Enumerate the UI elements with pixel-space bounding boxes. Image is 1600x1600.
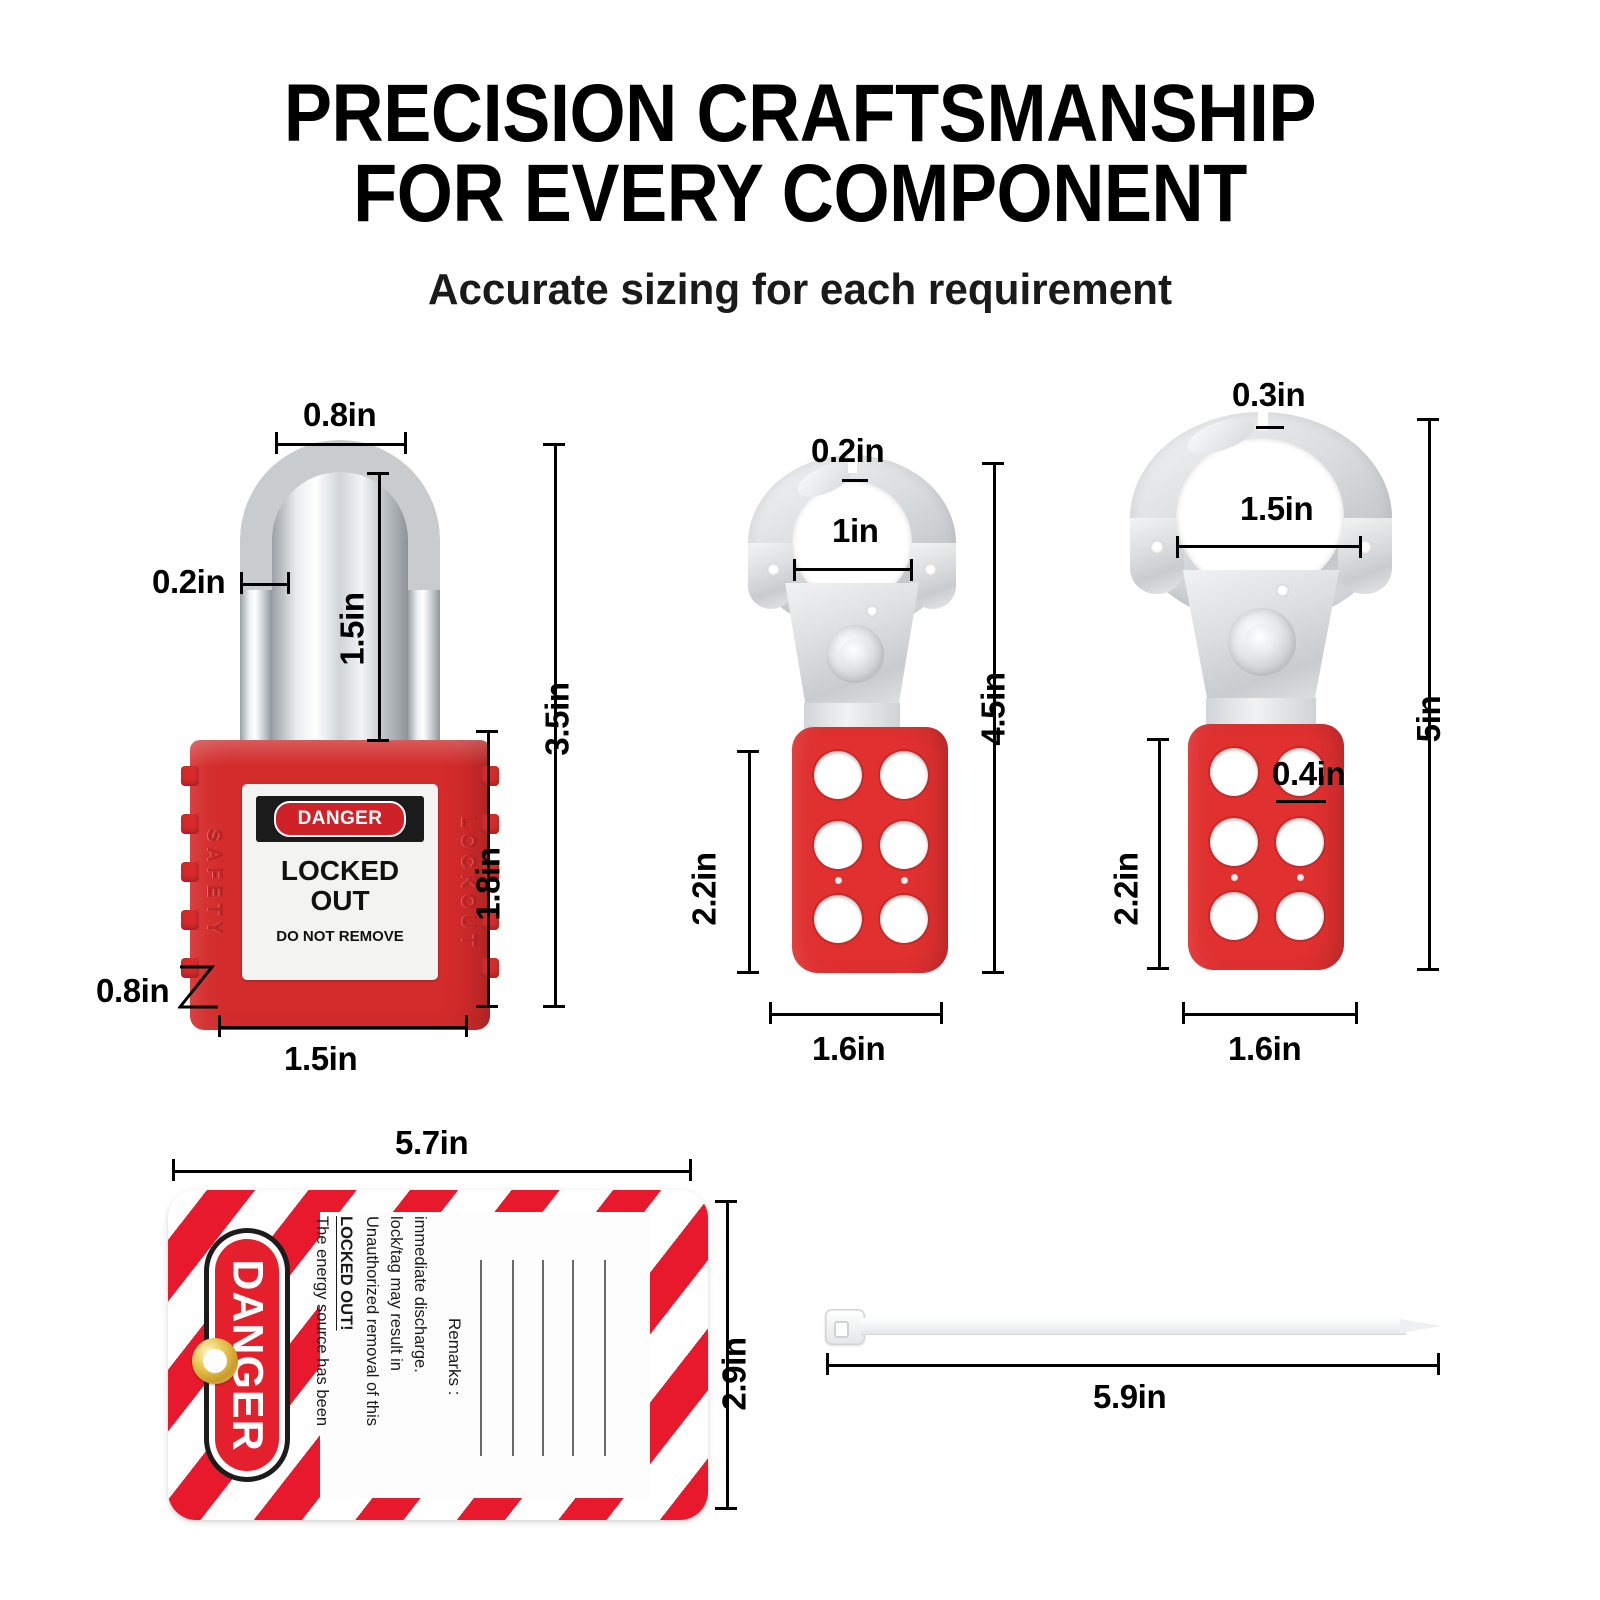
dim-hasp2-hole-diameter: 0.4in (1272, 755, 1345, 793)
header-block: PRECISION CRAFTSMANSHIP FOR EVERY COMPON… (0, 74, 1600, 315)
hasp2-hole-3 (1210, 818, 1258, 866)
tag-body-text: The energy source has been LOCKED OUT! U… (318, 1216, 528, 1494)
dim-hasp1-jaw-gap: 0.2in (811, 432, 884, 470)
padlock-embossed-safety: SAFETY (202, 784, 224, 984)
tag-text-line1: The energy source has been (311, 1216, 332, 1494)
dim-hasp2-body-width: 1.6in (1228, 1030, 1301, 1068)
hasp2-hole-4 (1276, 818, 1324, 866)
tie-strap (861, 1318, 1406, 1335)
tag-remarks-label: Remarks : (444, 1318, 464, 1494)
hasp1-rivet-boss (826, 625, 884, 683)
dim-hasp2-jaw-opening: 1.5in (1240, 490, 1313, 528)
product-safety-padlock: SAFETY LOCKOUT DANGER LOCKED OUT DO NOT … (190, 440, 550, 1060)
dim-tag-width: 5.7in (395, 1124, 468, 1162)
tag-rule-2 (512, 1260, 514, 1456)
hasp1-hole-5 (814, 895, 862, 943)
dim-hasp1-body-height: 2.2in (686, 852, 724, 925)
tag-card: DANGER The energy source has been LOCKED… (168, 1190, 708, 1520)
dim-hasp1-body-width: 1.6in (812, 1030, 885, 1068)
product-danger-tag: DANGER The energy source has been LOCKED… (168, 1190, 708, 1520)
page-subtitle: Accurate sizing for each requirement (32, 265, 1568, 315)
tag-text-line4: lock/tag may result in (385, 1216, 406, 1494)
hasp1-hole-4 (880, 821, 928, 869)
infographic-canvas: PRECISION CRAFTSMANSHIP FOR EVERY COMPON… (0, 0, 1600, 1600)
padlock-label: DANGER LOCKED OUT DO NOT REMOVE (242, 784, 438, 980)
hasp2-wing-right (1338, 518, 1392, 594)
tag-grommet (192, 1338, 238, 1384)
hasp2-pin-hole-left (1150, 540, 1164, 554)
tag-rule-1 (480, 1260, 482, 1456)
dim-shackle-diameter: 0.2in (152, 563, 225, 601)
tie-tip (1400, 1319, 1442, 1333)
tag-rule-5 (604, 1260, 606, 1456)
page-title-line1: PRECISION CRAFTSMANSHIP (96, 74, 1504, 154)
tag-text-line3: Unauthorized removal of this (361, 1216, 382, 1494)
dim-tag-height: 2.9in (716, 1337, 754, 1410)
hasp2-rivet-left (1231, 874, 1238, 881)
hasp1-pin-hole-left (767, 563, 780, 576)
tie-slot (834, 1321, 849, 1338)
hasp2-rivet-right (1297, 874, 1304, 881)
label-locked-line: LOCKED OUT (281, 856, 399, 916)
tag-text-line5: immediate discharge. (409, 1216, 430, 1494)
tag-rule-3 (542, 1260, 544, 1456)
label-line-3: DO NOT REMOVE (276, 928, 404, 945)
dim-hasp1-jaw-opening: 1in (832, 512, 878, 550)
tie-head (825, 1309, 865, 1345)
hasp2-hole-5 (1210, 892, 1258, 940)
label-line-2: OUT (281, 886, 399, 916)
hasp1-rivet-right (901, 877, 908, 884)
dim-hasp2-body-height: 2.2in (1108, 852, 1146, 925)
tag-text-line2: LOCKED OUT! (335, 1216, 356, 1494)
dim-total-height: 3.5in (539, 682, 577, 755)
dim-shackle-clearance: 1.5in (334, 592, 372, 665)
dim-hasp2-jaw-gap: 0.3in (1232, 376, 1305, 414)
hasp2-rivet-boss (1228, 608, 1296, 676)
hasp2-small-hole (1276, 584, 1289, 597)
hasp1-pin-hole-right (924, 563, 937, 576)
hasp1-wing-right (910, 543, 956, 609)
hasp2-hole-1 (1210, 748, 1258, 796)
hasp1-wing-left (748, 543, 794, 609)
hasp1-hole-1 (814, 751, 862, 799)
dim-body-width: 1.5in (284, 1040, 357, 1078)
hasp1-hole-3 (814, 821, 862, 869)
product-cable-tie (825, 1305, 1440, 1349)
hasp1-red-body (792, 727, 948, 973)
page-title-line2: FOR EVERY COMPONENT (96, 154, 1504, 234)
label-line-1: LOCKED (281, 856, 399, 886)
hasp1-rivet-left (835, 877, 842, 884)
dim-body-depth: 0.8in (96, 972, 169, 1010)
label-danger-pill: DANGER (274, 801, 406, 837)
dim-tie-length: 5.9in (1093, 1378, 1166, 1416)
dim-shackle-width: 0.8in (303, 396, 376, 434)
hasp1-hole-6 (880, 895, 928, 943)
tag-rule-4 (572, 1260, 574, 1456)
hasp2-hole-6 (1276, 892, 1324, 940)
label-danger-banner: DANGER (256, 796, 424, 842)
dim-depth-leader (178, 963, 240, 1015)
hasp1-small-hole (866, 605, 878, 617)
hasp1-hole-2 (880, 751, 928, 799)
